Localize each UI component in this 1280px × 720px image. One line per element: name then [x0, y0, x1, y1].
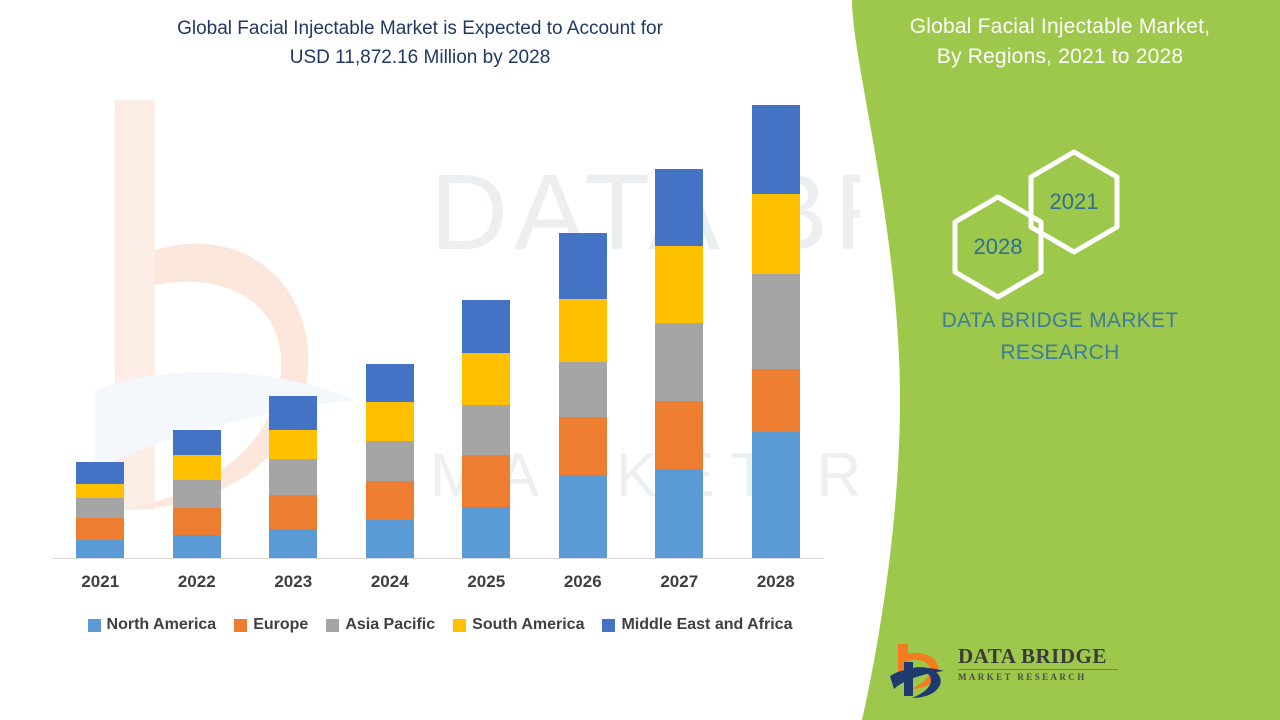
bar-segment[interactable] [366, 481, 414, 520]
bar-column [728, 100, 825, 558]
hexagon-group: 2028 2021 [890, 148, 1220, 278]
brand-name-line-1: DATA BRIDGE MARKET [860, 305, 1260, 337]
bar-column [535, 100, 632, 558]
bar-stack[interactable] [269, 396, 317, 558]
bar-chart-plot [52, 100, 824, 558]
legend-item[interactable]: South America [453, 616, 584, 634]
x-axis-tick-label: 2027 [631, 572, 728, 592]
bar-segment[interactable] [269, 495, 317, 529]
logo-wordmark: DATA BRIDGE MARKET RESEARCH [958, 644, 1118, 682]
bar-segment[interactable] [752, 369, 800, 432]
bar-stack[interactable] [655, 169, 703, 558]
x-axis-tick-label: 2022 [149, 572, 246, 592]
data-bridge-logo-mark-icon [888, 640, 950, 698]
bar-stack[interactable] [366, 364, 414, 558]
bar-segment[interactable] [366, 520, 414, 558]
bar-segment[interactable] [752, 105, 800, 194]
bar-segment[interactable] [173, 480, 221, 508]
chart-title-line-2: USD 11,872.16 Million by 2028 [60, 43, 780, 72]
panel-title-line-2: By Regions, 2021 to 2028 [860, 42, 1260, 72]
bar-segment[interactable] [173, 508, 221, 535]
bar-segment[interactable] [462, 300, 510, 354]
logo-divider [958, 669, 1118, 670]
bar-segment[interactable] [655, 323, 703, 401]
legend-swatch [602, 619, 615, 632]
x-axis-tick-label: 2023 [245, 572, 342, 592]
bar-segment[interactable] [559, 417, 607, 475]
bar-segment[interactable] [76, 462, 124, 484]
hexagon-2021: 2021 [1026, 148, 1122, 256]
bar-segment[interactable] [366, 364, 414, 402]
bar-segment[interactable] [655, 401, 703, 469]
bar-segment[interactable] [269, 459, 317, 494]
bar-segment[interactable] [173, 430, 221, 454]
bar-segment[interactable] [655, 169, 703, 247]
bar-segment[interactable] [559, 299, 607, 362]
logo-subtitle: MARKET RESEARCH [958, 672, 1118, 682]
logo-title: DATA BRIDGE [958, 644, 1118, 668]
x-axis-tick-label: 2021 [52, 572, 149, 592]
panel-title-line-1: Global Facial Injectable Market, [860, 12, 1260, 42]
bar-column [245, 100, 342, 558]
legend-swatch [453, 619, 466, 632]
bar-segment[interactable] [559, 233, 607, 299]
bar-stack[interactable] [76, 462, 124, 558]
bar-segment[interactable] [269, 430, 317, 459]
bar-column [438, 100, 535, 558]
bar-segment[interactable] [366, 441, 414, 481]
bar-stack[interactable] [173, 430, 221, 558]
legend-swatch [326, 619, 339, 632]
bar-segment[interactable] [76, 540, 124, 558]
legend-item[interactable]: North America [88, 616, 217, 634]
bar-segment[interactable] [655, 246, 703, 323]
bar-stack[interactable] [462, 300, 510, 558]
bar-stack[interactable] [752, 105, 800, 558]
bar-segment[interactable] [752, 194, 800, 274]
legend-label: Middle East and Africa [621, 616, 792, 634]
legend-item[interactable]: Middle East and Africa [602, 616, 792, 634]
bar-segment[interactable] [173, 535, 221, 558]
bar-segment[interactable] [462, 405, 510, 455]
legend-swatch [234, 619, 247, 632]
hexagon-2021-label: 2021 [1026, 148, 1122, 256]
x-axis-labels: 20212022202320242025202620272028 [52, 572, 824, 592]
legend-label: South America [472, 616, 584, 634]
bar-segment[interactable] [366, 402, 414, 441]
bar-segment[interactable] [559, 475, 607, 558]
bar-segment[interactable] [269, 396, 317, 430]
bar-segment[interactable] [76, 484, 124, 499]
bar-segment[interactable] [752, 432, 800, 558]
bar-segment[interactable] [462, 507, 510, 558]
bar-column [342, 100, 439, 558]
bar-segment[interactable] [752, 274, 800, 369]
x-axis-tick-label: 2025 [438, 572, 535, 592]
x-axis-line [52, 558, 824, 559]
chart-canvas: DATA BRIDGE MARKET RESEARCH Global Facia… [0, 0, 1280, 720]
legend-label: North America [107, 616, 217, 634]
bar-segment[interactable] [655, 469, 703, 558]
brand-name-line-2: RESEARCH [860, 337, 1260, 369]
bar-stack[interactable] [559, 233, 607, 558]
brand-panel: Global Facial Injectable Market, By Regi… [860, 0, 1280, 720]
legend-swatch [88, 619, 101, 632]
legend-item[interactable]: Europe [234, 616, 308, 634]
panel-title: Global Facial Injectable Market, By Regi… [860, 12, 1260, 72]
bar-segment[interactable] [462, 353, 510, 404]
x-axis-tick-label: 2028 [728, 572, 825, 592]
chart-title-line-1: Global Facial Injectable Market is Expec… [60, 14, 780, 43]
legend-item[interactable]: Asia Pacific [326, 616, 435, 634]
bar-column [631, 100, 728, 558]
x-axis-tick-label: 2026 [535, 572, 632, 592]
bar-segment[interactable] [76, 518, 124, 540]
legend-label: Europe [253, 616, 308, 634]
bar-segment[interactable] [559, 362, 607, 417]
brand-name: DATA BRIDGE MARKET RESEARCH [860, 305, 1260, 369]
chart-panel: DATA BRIDGE MARKET RESEARCH Global Facia… [0, 0, 860, 720]
bar-segment[interactable] [269, 529, 317, 558]
bar-column [52, 100, 149, 558]
legend-label: Asia Pacific [345, 616, 435, 634]
bar-segment[interactable] [173, 455, 221, 481]
chart-legend: North AmericaEuropeAsia PacificSouth Ame… [40, 616, 840, 634]
company-logo: DATA BRIDGE MARKET RESEARCH [888, 638, 1118, 700]
bar-segment[interactable] [462, 455, 510, 507]
page-title: Global Facial Injectable Market is Expec… [60, 14, 780, 72]
bar-column [149, 100, 246, 558]
bar-segment[interactable] [76, 498, 124, 517]
x-axis-tick-label: 2024 [342, 572, 439, 592]
